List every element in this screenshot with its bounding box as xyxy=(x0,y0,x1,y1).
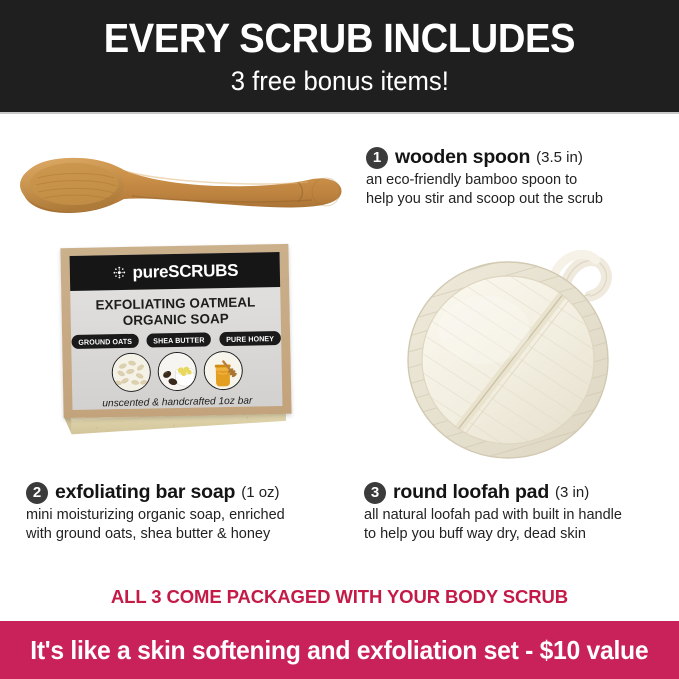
soap-wrapper-package: pureSCRUBS EXFOLIATING OATMEAL ORGANIC S… xyxy=(60,244,291,418)
value-banner: It's like a skin softening and exfoliati… xyxy=(0,621,679,679)
soap-tagline: unscented & handcrafted 1oz bar xyxy=(102,396,252,410)
item-3-heading: 3 round loofah pad (3 in) xyxy=(364,481,674,504)
item-1-description-line1: an eco-friendly bamboo spoon to xyxy=(366,171,666,190)
item-3-size: (3 in) xyxy=(555,484,589,501)
item-3-number-badge: 3 xyxy=(364,482,386,504)
item-1-title: wooden spoon xyxy=(395,146,530,169)
item-1-size: (3.5 in) xyxy=(536,149,583,166)
loofah-pad-photo xyxy=(398,238,656,470)
item-2-caption: 2 exfoliating bar soap (1 oz) mini moist… xyxy=(26,481,346,543)
ingredient-pill-ground-oats: GROUND OATS xyxy=(72,334,139,349)
page-subtitle: 3 free bonus items! xyxy=(230,68,448,95)
mandala-logo-icon xyxy=(111,265,126,280)
brand-bar: pureSCRUBS xyxy=(70,252,281,291)
item-2-title: exfoliating bar soap xyxy=(55,481,235,504)
item-1-caption: 1 wooden spoon (3.5 in) an eco-friendly … xyxy=(366,146,666,208)
soap-product-line1: EXFOLIATING OATMEAL xyxy=(95,294,255,313)
ingredient-pill-row: GROUND OATS SHEA BUTTER PURE HONEY xyxy=(70,331,281,349)
header-divider xyxy=(0,112,679,114)
item-3-description-line2: to help you buff way dry, dead skin xyxy=(364,525,674,544)
item-2-heading: 2 exfoliating bar soap (1 oz) xyxy=(26,481,346,504)
item-2-size: (1 oz) xyxy=(241,484,279,501)
item-2-number-badge: 2 xyxy=(26,482,48,504)
item-2-description-line2: with ground oats, shea butter & honey xyxy=(26,525,346,544)
packaging-note: ALL 3 COME PACKAGED WITH YOUR BODY SCRUB xyxy=(0,586,679,608)
bar-soap-photo: pureSCRUBS EXFOLIATING OATMEAL ORGANIC S… xyxy=(44,246,314,456)
item-3-title: round loofah pad xyxy=(393,481,549,504)
ingredient-pill-pure-honey: PURE HONEY xyxy=(219,331,281,346)
value-banner-text: It's like a skin softening and exfoliati… xyxy=(30,635,648,666)
honey-jar-circle-photo xyxy=(203,351,243,391)
bamboo-spoon-photo xyxy=(8,142,353,228)
item-3-caption: 3 round loofah pad (3 in) all natural lo… xyxy=(364,481,674,543)
brand-name: pureSCRUBS xyxy=(132,260,238,282)
item-2-description-line1: mini moisturizing organic soap, enriched xyxy=(26,506,346,525)
item-1-description-line2: help you stir and scoop out the scrub xyxy=(366,190,666,209)
soap-product-line2: ORGANIC SOAP xyxy=(96,310,256,329)
soap-product-name: EXFOLIATING OATMEAL ORGANIC SOAP xyxy=(95,294,255,328)
ingredient-photo-row xyxy=(111,351,243,393)
header-banner: EVERY SCRUB INCLUDES 3 free bonus items! xyxy=(0,0,679,112)
item-1-heading: 1 wooden spoon (3.5 in) xyxy=(366,146,666,169)
item-3-description-line1: all natural loofah pad with built in han… xyxy=(364,506,674,525)
item-1-number-badge: 1 xyxy=(366,147,388,169)
shea-butter-circle-photo xyxy=(157,352,197,392)
page-title: EVERY SCRUB INCLUDES xyxy=(104,18,575,59)
oats-circle-photo xyxy=(111,353,151,393)
soap-label-panel: pureSCRUBS EXFOLIATING OATMEAL ORGANIC S… xyxy=(70,252,283,410)
ingredient-pill-shea-butter: SHEA BUTTER xyxy=(147,332,212,347)
